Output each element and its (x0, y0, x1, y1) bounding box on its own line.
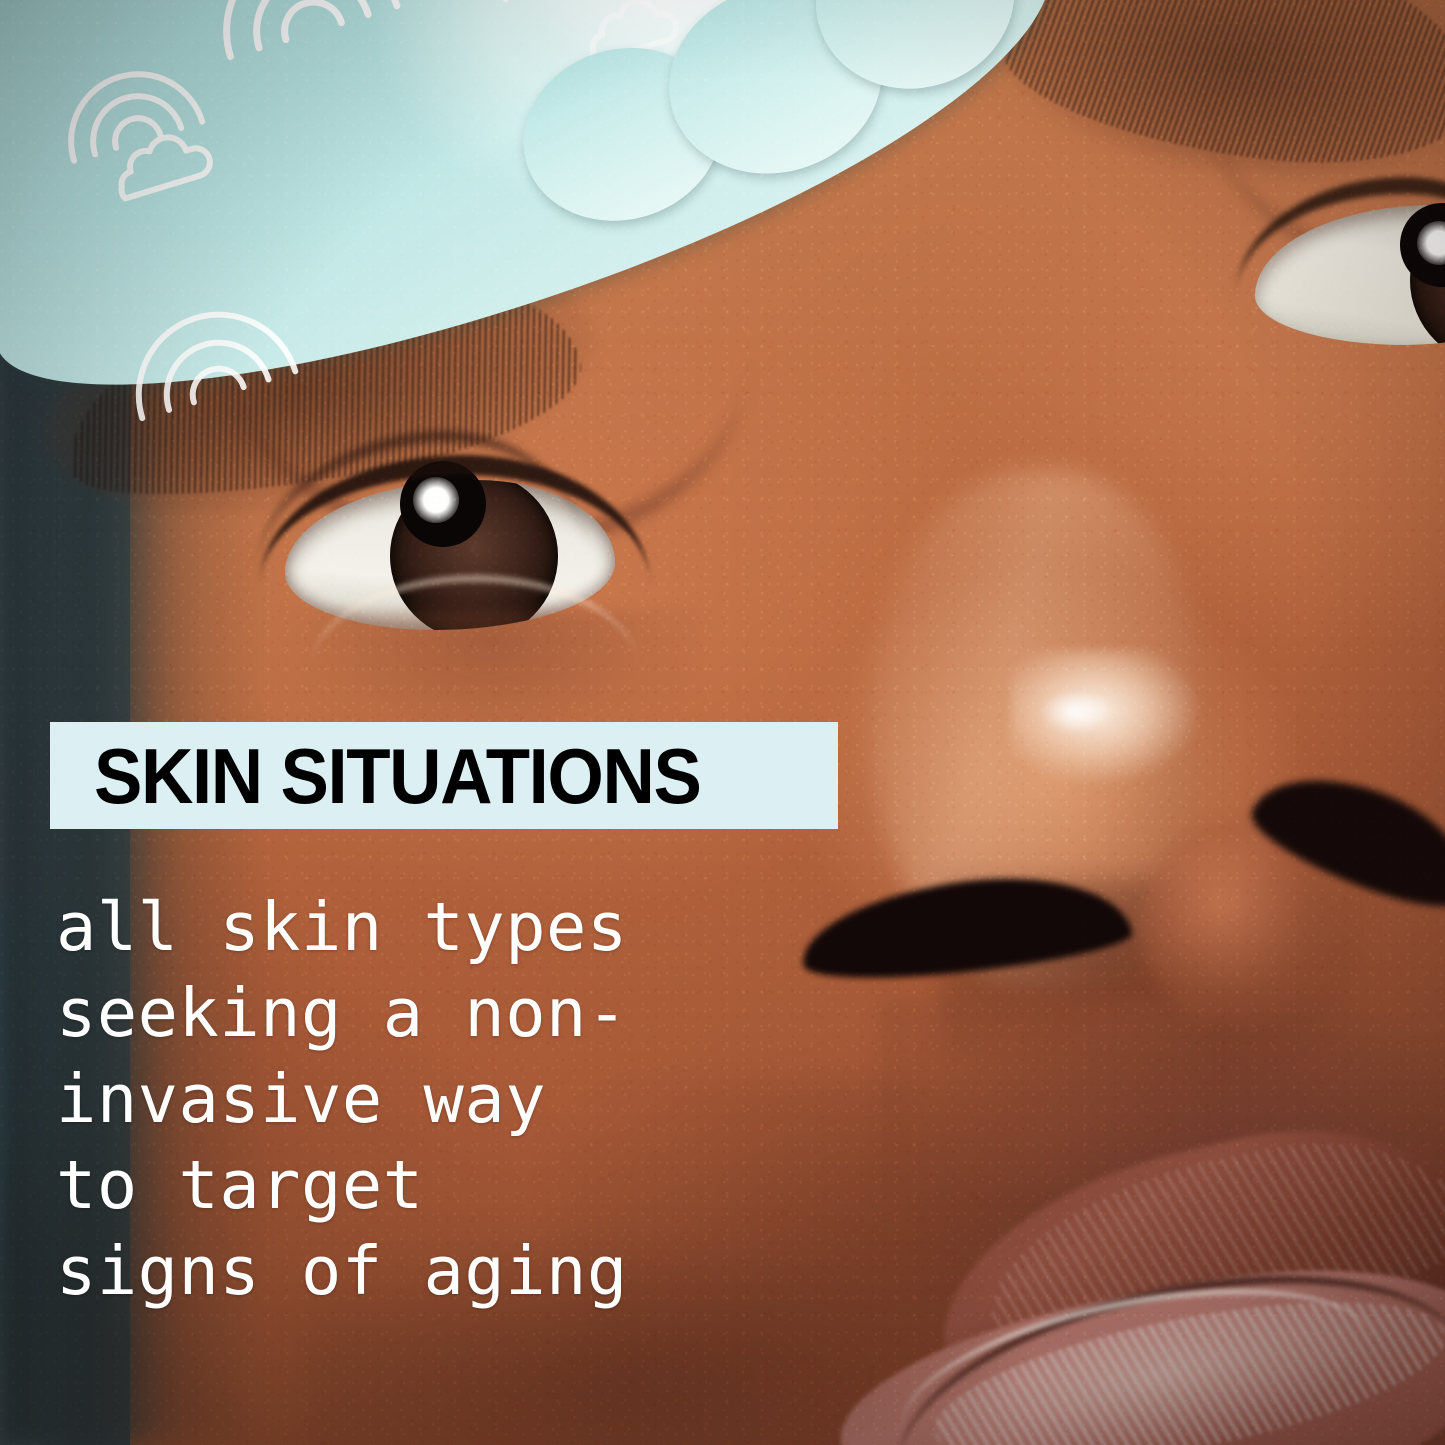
body-copy: all skin types seeking a non- invasive w… (56, 884, 628, 1314)
headline-banner: SKIN SITUATIONS (50, 722, 838, 829)
page-title: SKIN SITUATIONS (94, 737, 700, 815)
promo-image-canvas: SKIN SITUATIONS all skin types seeking a… (0, 0, 1445, 1445)
